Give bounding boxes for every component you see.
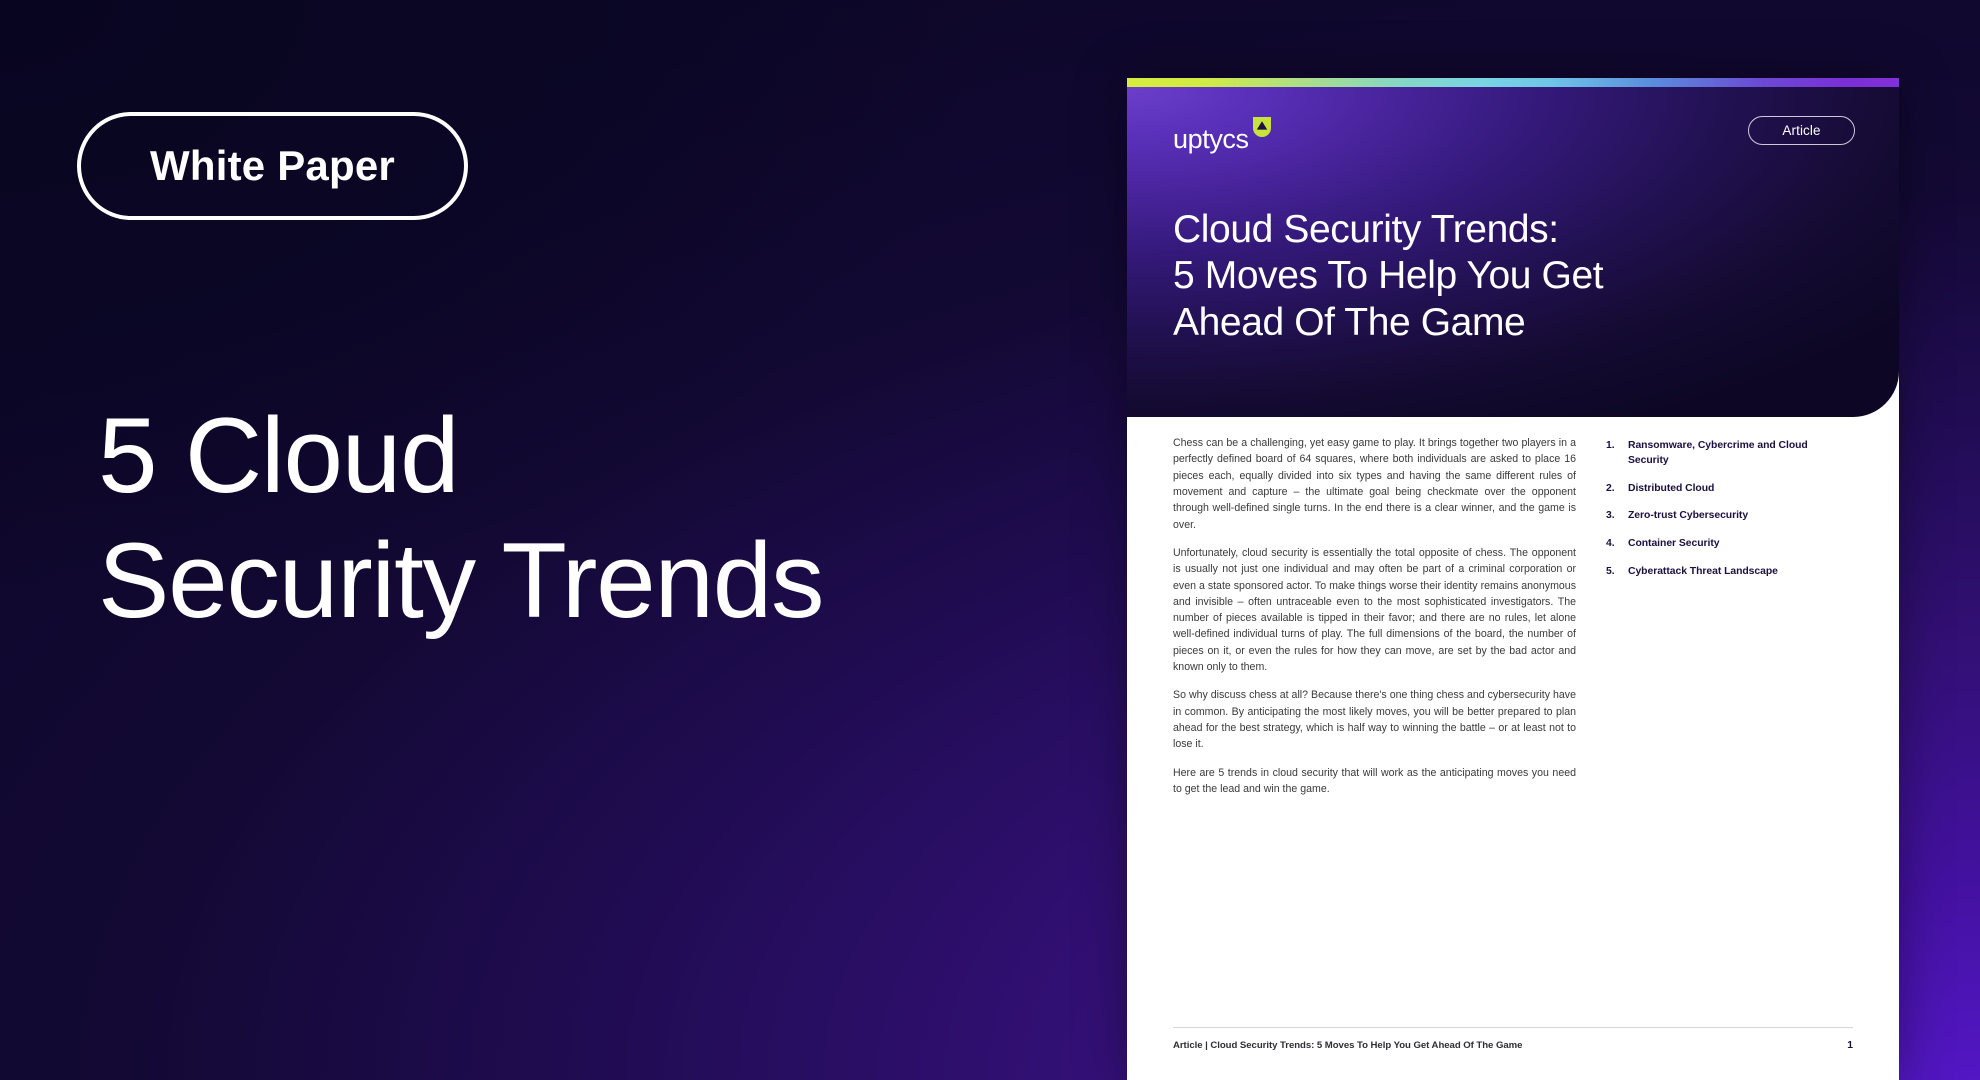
document-header: uptycs Article Cloud Security Trends: 5 …: [1127, 87, 1899, 417]
footer-row: Article | Cloud Security Trends: 5 Moves…: [1173, 1040, 1853, 1051]
uptycs-logo[interactable]: uptycs: [1173, 117, 1271, 153]
body-paragraph: Here are 5 trends in cloud security that…: [1173, 765, 1576, 798]
gradient-accent-bar: [1127, 78, 1899, 87]
white-paper-badge-label: White Paper: [150, 145, 395, 187]
list-item-number: 5.: [1606, 565, 1628, 580]
list-item-label: Cyberattack Threat Landscape: [1628, 565, 1778, 580]
uptycs-wordmark: uptycs: [1173, 117, 1249, 153]
document-title: Cloud Security Trends: 5 Moves To Help Y…: [1173, 207, 1833, 346]
list-item-number: 2.: [1606, 482, 1628, 497]
article-badge[interactable]: Article: [1748, 116, 1855, 145]
list-item: 4. Container Security: [1606, 537, 1811, 552]
body-columns: Chess can be a challenging, yet easy gam…: [1173, 435, 1853, 797]
hero-panel: White Paper 5 Cloud Security Trends: [0, 0, 1130, 1080]
article-badge-label: Article: [1782, 124, 1820, 138]
list-item-number: 1.: [1606, 439, 1628, 454]
footer-caption: Article | Cloud Security Trends: 5 Moves…: [1173, 1040, 1522, 1051]
white-paper-badge: White Paper: [77, 112, 468, 220]
list-item: 1. Ransomware, Cybercrime and Cloud Secu…: [1606, 439, 1811, 469]
uptycs-shield-icon: [1253, 117, 1271, 142]
hero-title: 5 Cloud Security Trends: [98, 393, 1088, 643]
footer-page-number: 1: [1847, 1040, 1853, 1051]
body-paragraph: Chess can be a challenging, yet easy gam…: [1173, 435, 1576, 533]
list-item: 3. Zero-trust Cybersecurity: [1606, 509, 1811, 524]
list-item-number: 4.: [1606, 537, 1628, 552]
list-item-label: Distributed Cloud: [1628, 482, 1714, 497]
list-item-label: Zero-trust Cybersecurity: [1628, 509, 1748, 524]
footer-divider: [1173, 1027, 1853, 1028]
poster-canvas: White Paper 5 Cloud Security Trends upty…: [0, 0, 1980, 1080]
list-item-label: Ransomware, Cybercrime and Cloud Securit…: [1628, 439, 1811, 469]
list-item: 5. Cyberattack Threat Landscape: [1606, 565, 1811, 580]
list-item-number: 3.: [1606, 509, 1628, 524]
document-page: uptycs Article Cloud Security Trends: 5 …: [1127, 78, 1899, 1080]
body-paragraph: Unfortunately, cloud security is essenti…: [1173, 545, 1576, 676]
document-body: Chess can be a challenging, yet easy gam…: [1127, 417, 1899, 1080]
body-text-column: Chess can be a challenging, yet easy gam…: [1173, 435, 1576, 797]
list-item-label: Container Security: [1628, 537, 1720, 552]
trend-list: 1. Ransomware, Cybercrime and Cloud Secu…: [1606, 435, 1811, 593]
list-item: 2. Distributed Cloud: [1606, 482, 1811, 497]
document-footer: Article | Cloud Security Trends: 5 Moves…: [1173, 1027, 1853, 1051]
body-paragraph: So why discuss chess at all? Because the…: [1173, 687, 1576, 752]
